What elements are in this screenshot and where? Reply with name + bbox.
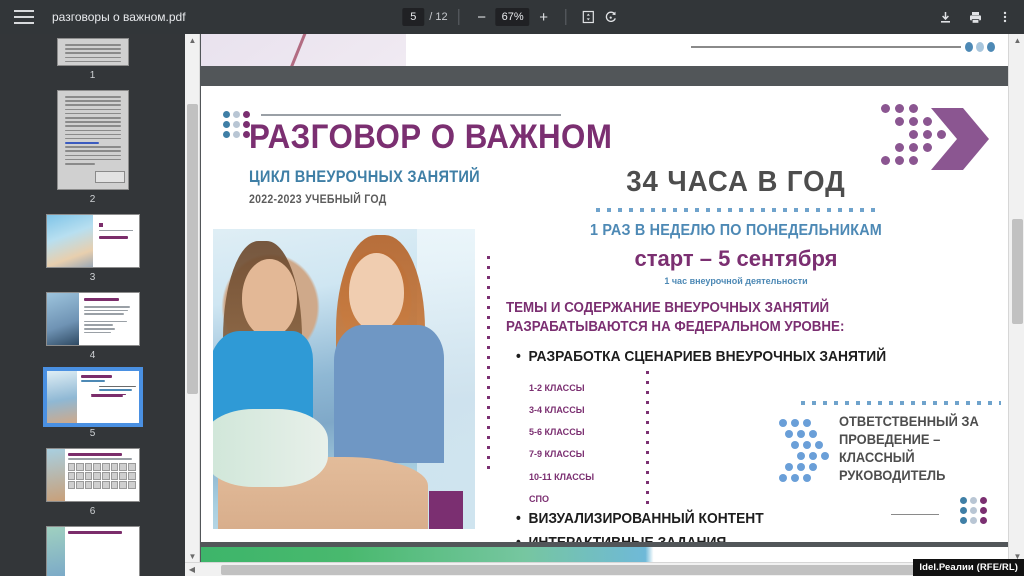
toolbar-divider [459,9,460,25]
toolbar: разговоры о важном.pdf / 12 − 67% + [0,0,1024,34]
bullet-marker: • [516,348,529,365]
frequency-label: 1 РАЗ В НЕДЕЛЮ ПО ПОНЕДЕЛЬНИКАМ [525,222,948,240]
viewer-left-scrollbar[interactable]: ▲ ▼ [185,34,200,563]
thumbnail-item-2[interactable]: 2 [57,90,129,205]
previous-page-partial [201,34,1009,66]
list-item: 1-2 КЛАССЫ [529,378,594,400]
thumbnail-item-3[interactable]: 3 [46,214,140,283]
toolbar-divider-2 [566,9,567,25]
scroll-up-arrow-icon[interactable]: ▲ [188,36,197,45]
scrollbar-thumb-horizontal[interactable] [221,565,1011,575]
document-title: разговоры о важном.pdf [52,10,186,24]
thumbnail-item-1[interactable]: 1 [57,38,129,81]
print-icon[interactable] [964,6,986,28]
thumbnail-item-6[interactable]: 6 [46,448,140,517]
page-gap [201,66,1009,86]
blue-chevron-dots-icon [779,419,839,489]
thumbnail-image-6[interactable] [46,448,140,502]
scrollbar-thumb[interactable] [187,104,198,394]
start-note-label: 1 час внеурочной деятельности [501,276,971,286]
page-total-label: / 12 [429,11,447,23]
thumbnail-image-2[interactable] [57,90,129,190]
start-date-label: старт – 5 сентября [501,246,971,272]
scroll-left-arrow-icon[interactable]: ◀ [185,565,199,574]
decorative-dots [965,42,995,52]
thumbnail-number: 5 [90,428,96,439]
thumbnail-number: 4 [90,350,96,361]
bullet-item-3: • ИНТЕРАКТИВНЫЕ ЗАДАНИЯ [516,534,726,542]
toolbar-center-controls: / 12 − 67% + [402,0,621,34]
viewer-right-scrollbar[interactable]: ▲ ▼ [1008,34,1024,563]
academic-year-label: 2022-2023 УЧЕБНЫЙ ГОД [249,192,387,206]
thumbnail-image-3[interactable] [46,214,140,268]
list-item: 3-4 КЛАССЫ [529,400,594,422]
two-schoolgirls-photo [213,229,475,529]
zoom-in-button[interactable]: + [533,6,555,28]
previous-page-photo [201,34,406,66]
hamburger-menu-icon[interactable] [14,10,34,25]
scrollbar-thumb[interactable] [1012,219,1023,324]
bullet-item-3-label: ИНТЕРАКТИВНЫЕ ЗАДАНИЯ [529,534,727,542]
hours-heading: 34 ЧАСА В ГОД [513,166,960,199]
title-rule [261,114,561,116]
thumbnail-sidebar[interactable]: 1 2 [0,34,185,576]
list-item: 10-11 КЛАССЫ [529,467,594,489]
fit-page-icon[interactable] [578,6,600,28]
thumbnail-item-7[interactable]: 7 [46,526,140,576]
responsible-label: ОТВЕТСТВЕННЫЙ ЗА ПРОВЕДЕНИЕ – КЛАССНЫЙ Р… [839,413,995,485]
bullet-marker: • [516,534,529,542]
thumbnail-item-5[interactable]: 5 [46,370,140,439]
thumbnail-number: 1 [90,70,96,81]
page-subtitle: ЦИКЛ ВНЕУРОЧНЫХ ЗАНЯТИЙ [249,167,480,187]
thumbnail-image-1[interactable] [57,38,129,66]
pdf-viewer-app: разговоры о важном.pdf / 12 − 67% + [0,0,1024,576]
list-item: 5-6 КЛАССЫ [529,422,594,444]
list-item: 7-9 КЛАССЫ [529,444,594,466]
zoom-out-button[interactable]: − [471,6,493,28]
decorative-square [429,491,463,529]
thumbnail-number: 2 [90,194,96,205]
bullet-item-2: • ВИЗУАЛИЗИРОВАННЫЙ КОНТЕНТ [516,510,764,527]
bullet-item-1-label: РАЗРАБОТКА СЦЕНАРИЕВ ВНЕУРОЧНЫХ ЗАНЯТИЙ [529,348,887,365]
bullet-marker: • [516,510,529,527]
download-icon[interactable] [934,6,956,28]
themes-heading: ТЕМЫ И СОДЕРЖАНИЕ ВНЕУРОЧНЫХ ЗАНЯТИЙ РАЗ… [506,299,938,337]
scroll-up-arrow-icon[interactable]: ▲ [1013,36,1022,45]
page-number-input[interactable] [402,8,424,26]
pdf-page-viewer[interactable]: РАЗГОВОР О ВАЖНОМ ЦИКЛ ВНЕУРОЧНЫХ ЗАНЯТИ… [185,34,1024,576]
chevron-logo [881,104,993,174]
zoom-level-label[interactable]: 67% [496,8,530,26]
more-options-icon[interactable] [994,6,1016,28]
vertical-dotted-divider-2 [646,371,649,511]
vertical-dotted-divider [487,256,490,476]
thumbnail-image-7[interactable] [46,526,140,576]
page-title: РАЗГОВОР О ВАЖНОМ [249,118,612,157]
viewer-horizontal-scrollbar[interactable]: ◀ [185,562,1024,576]
thumbnail-number: 3 [90,272,96,283]
horizontal-dotted-rule [596,208,876,212]
title-dot-grid-icon [223,111,250,138]
thumbnail-item-4[interactable]: 4 [46,292,140,361]
bullet-item-1: • РАЗРАБОТКА СЦЕНАРИЕВ ВНЕУРОЧНЫХ ЗАНЯТИ… [516,348,886,365]
decorative-stripe [285,34,310,66]
list-item: СПО [529,489,594,511]
logo-chevron-icon [927,106,993,172]
thumbnail-image-4[interactable] [46,292,140,346]
scroll-down-arrow-icon[interactable]: ▼ [188,552,197,561]
rotate-icon[interactable] [600,6,622,28]
responsible-dotted-rule [801,401,1001,405]
thumbnail-image-5[interactable] [46,370,140,424]
watermark: Idel.Реалии (RFE/RL) [913,559,1024,576]
bottom-dot-grid-icon [960,497,987,524]
thumbnail-number: 6 [90,506,96,517]
bullet-item-2-label: ВИЗУАЛИЗИРОВАННЫЙ КОНТЕНТ [529,510,764,527]
current-slide: РАЗГОВОР О ВАЖНОМ ЦИКЛ ВНЕУРОЧНЫХ ЗАНЯТИ… [201,86,1009,542]
decorative-rule [691,46,961,48]
grade-list: 1-2 КЛАССЫ 3-4 КЛАССЫ 5-6 КЛАССЫ 7-9 КЛА… [529,378,594,511]
next-page-partial [201,547,1009,562]
bottom-rule [891,514,939,516]
toolbar-right-controls [934,0,1016,34]
